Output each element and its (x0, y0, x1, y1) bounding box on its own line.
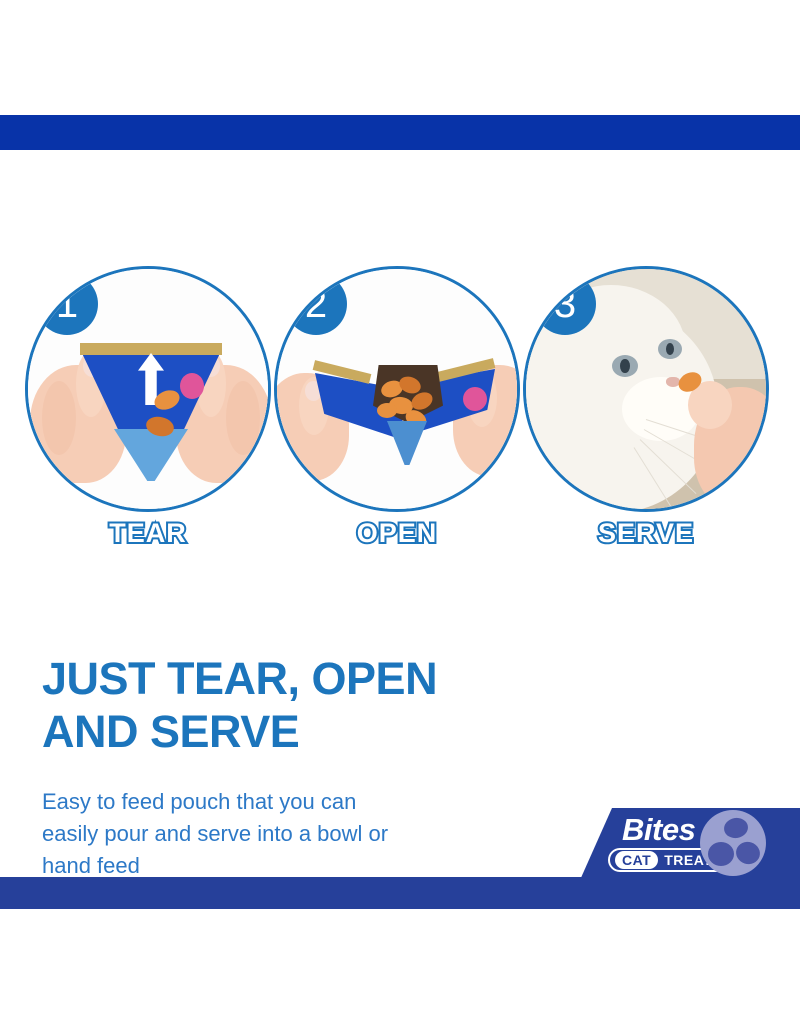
step-1-caption: TEAR (25, 518, 271, 549)
step-2-caption: OPEN (274, 518, 520, 549)
step-card-open: 2 OPEN (274, 266, 520, 512)
step-3-photo-frame: 3 (523, 266, 769, 512)
step-3-caption: SERVE (523, 518, 769, 549)
step-card-serve: 3 SERVE (523, 266, 769, 512)
paw-pads-icon (700, 810, 766, 876)
body-description: Easy to feed pouch that you can easily p… (42, 786, 457, 882)
bottom-accent-band (0, 877, 800, 909)
step-2-photo-frame: 2 (274, 266, 520, 512)
body-line-1: Easy to feed pouch that you can (42, 786, 457, 818)
step-2-number: 2 (285, 273, 347, 335)
step-1-number: 1 (36, 273, 98, 335)
logo-cat-badge: CAT (615, 851, 658, 869)
body-line-2: easily pour and serve into a bowl or (42, 818, 457, 850)
step-3-number: 3 (534, 273, 596, 335)
brand-logo: Bites CAT TREAT (580, 808, 800, 880)
headline-line-1: JUST TEAR, OPEN (42, 652, 562, 705)
step-1-photo-frame: 1 (25, 266, 271, 512)
logo-brand-name: Bites (622, 812, 695, 848)
headline: JUST TEAR, OPEN AND SERVE (42, 652, 562, 758)
headline-line-2: AND SERVE (42, 705, 562, 758)
steps-row: 1 TEAR (0, 258, 800, 558)
step-card-tear: 1 TEAR (25, 266, 271, 512)
top-accent-band (0, 115, 800, 150)
